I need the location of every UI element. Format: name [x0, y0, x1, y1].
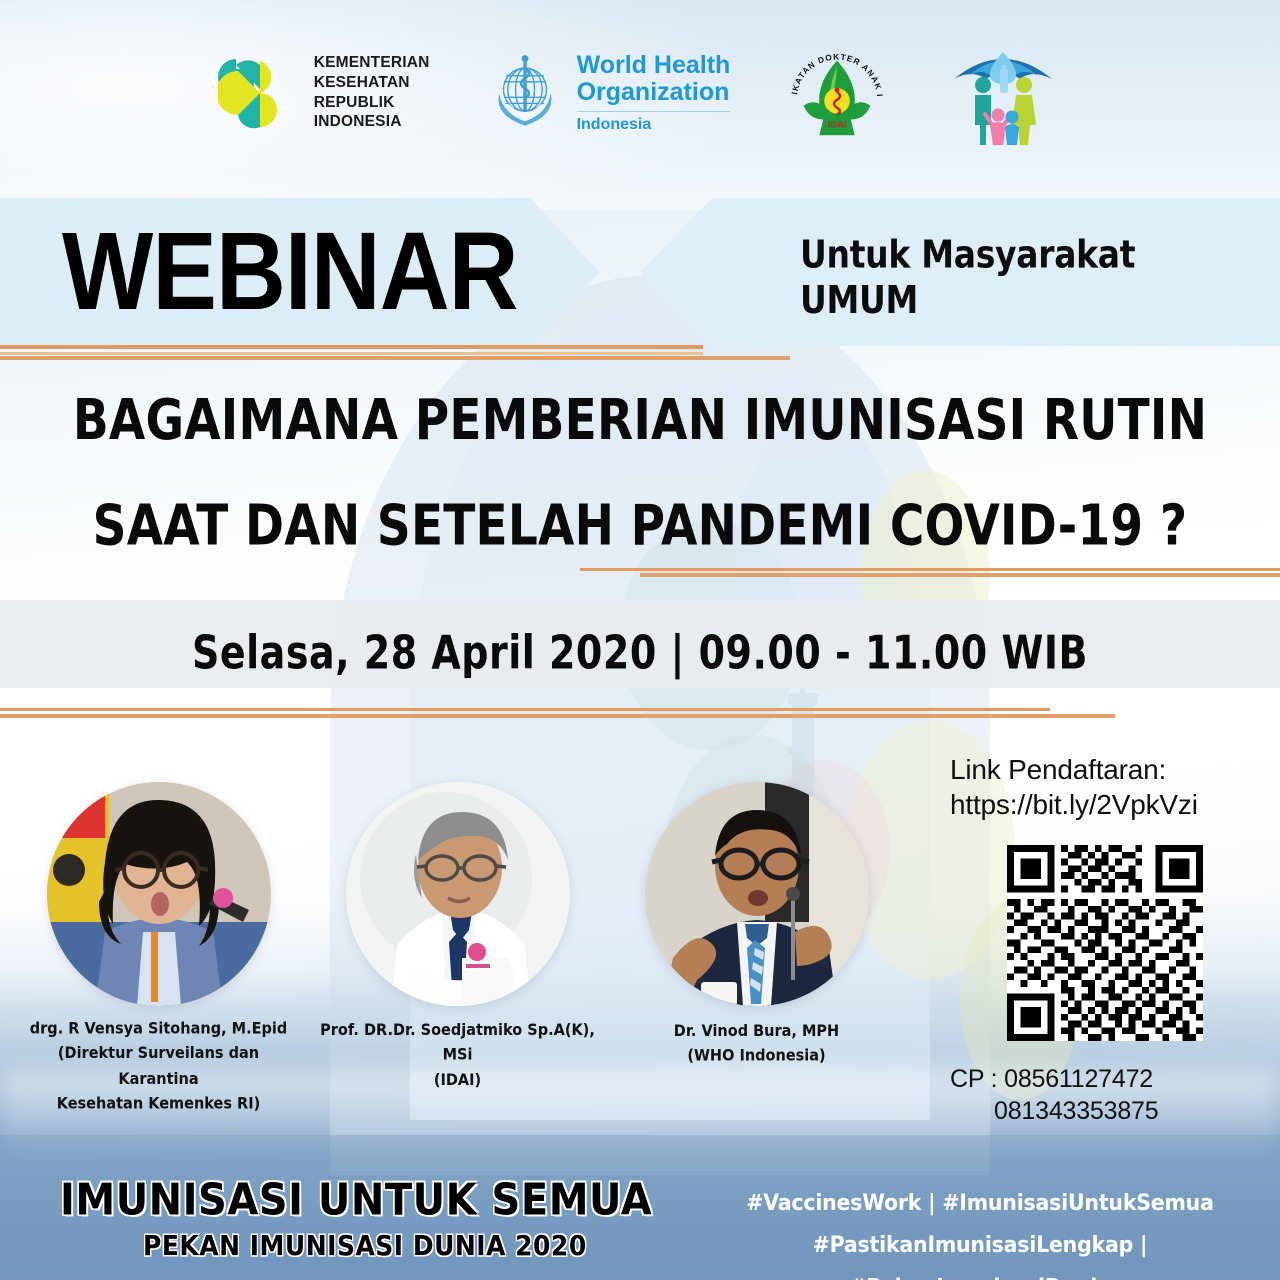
registration-url[interactable]: https://bit.ly/2VpkVzi [950, 787, 1260, 822]
who-logo: World Health Organization Indonesia [482, 50, 731, 136]
speaker-list: drg. R Vensya Sitohang, M.Epid (Direktur… [18, 782, 898, 1112]
contact-block: CP : 08561127472 081343353875 [950, 1063, 1260, 1128]
webinar-poster: KEMENTERIAN KESEHATAN REPUBLIK INDONESIA [0, 0, 1280, 1280]
divider-top-line-3 [0, 356, 790, 360]
contact-primary: CP : 08561127472 [950, 1065, 1153, 1093]
who-line-2: Organization [577, 79, 731, 106]
divider-mid-line-2 [640, 573, 1280, 577]
kemenkes-wordmark: KEMENTERIAN KESEHATAN REPUBLIK INDONESIA [314, 53, 430, 132]
speaker-affiliation-line-2: Kesehatan Kemenkes RI) [18, 1092, 299, 1117]
kemenkes-mark-icon [218, 43, 302, 143]
divider-top-line-1 [0, 345, 703, 349]
logo-bar: KEMENTERIAN KESEHATAN REPUBLIK INDONESIA [0, 0, 1280, 185]
hashtag-line-2: #PastikanImunisasiLengkap | #PekanImunis… [700, 1224, 1260, 1280]
kemenkes-line-2: KESEHATAN [314, 73, 430, 93]
speaker-card: Prof. DR.Dr. Soedjatmiko Sp.A(K), MSi (I… [317, 782, 598, 1112]
title-line-2: SAAT DAN SETELAH PANDEMI COVID-19 ? [0, 474, 1280, 580]
who-wordmark: World Health Organization Indonesia [577, 52, 731, 134]
avatar [47, 782, 271, 1006]
speaker-photo [346, 782, 570, 1006]
speaker-affiliation-line-1: (WHO Indonesia) [674, 1044, 839, 1069]
kemenkes-line-3: REPUBLIK [314, 93, 430, 113]
campaign-subslogan: PEKAN IMUNISASI DUNIA 2020 [143, 1232, 703, 1260]
speaker-photo [645, 782, 869, 1006]
divider-low-line-1 [0, 708, 1050, 711]
divider-mid-line-1 [580, 568, 1280, 571]
title-line-1: BAGAIMANA PEMBERIAN IMUNISASI RUTIN [0, 368, 1280, 474]
speaker-name: Dr. Vinod Bura, MPH [674, 1019, 839, 1044]
audience-label: Untuk Masyarakat UMUM [800, 232, 1240, 322]
speaker-affiliation-line-1: (IDAI) [317, 1068, 598, 1093]
registration-label: Link Pendaftaran: [950, 752, 1260, 787]
kemenkes-line-1: KEMENTERIAN [314, 53, 430, 73]
campaign-slogan: IMUNISASI UNTUK SEMUA [60, 1178, 680, 1222]
speaker-name: Prof. DR.Dr. Soedjatmiko Sp.A(K), MSi [317, 1018, 598, 1068]
speaker-card: drg. R Vensya Sitohang, M.Epid (Direktur… [18, 782, 299, 1112]
webinar-label: WEBINAR [62, 202, 499, 342]
page-title: BAGAIMANA PEMBERIAN IMUNISASI RUTIN SAAT… [0, 368, 1280, 579]
speaker-caption: Dr. Vinod Bura, MPH (WHO Indonesia) [674, 1019, 839, 1069]
divider-low-line-2 [0, 714, 1115, 718]
speaker-caption: Prof. DR.Dr. Soedjatmiko Sp.A(K), MSi (I… [317, 1018, 598, 1093]
schedule-text: Selasa, 28 April 2020 | 09.00 - 11.00 WI… [0, 604, 1280, 702]
avatar [346, 782, 570, 1006]
who-divider [577, 111, 731, 112]
speaker-affiliation-line-1: (Direktur Surveilans dan Karantina [18, 1042, 299, 1092]
hashtag-line-1: #VaccinesWork | #ImunisasiUntukSemua [700, 1182, 1260, 1224]
who-emblem-icon [482, 50, 568, 136]
who-country-label: Indonesia [577, 116, 731, 134]
divider-top-line-2 [0, 352, 703, 355]
contact-secondary: 081343353875 [950, 1095, 1260, 1128]
registration-block: Link Pendaftaran: https://bit.ly/2VpkVzi [950, 752, 1260, 1128]
speaker-photo [47, 782, 271, 1006]
avatar [645, 782, 869, 1006]
kemenkes-logo: KEMENTERIAN KESEHATAN REPUBLIK INDONESIA [218, 43, 430, 143]
speaker-caption: drg. R Vensya Sitohang, M.Epid (Direktur… [18, 1017, 299, 1118]
speaker-name: drg. R Vensya Sitohang, M.Epid [18, 1017, 299, 1042]
hashtag-block: #VaccinesWork | #ImunisasiUntukSemua #Pa… [700, 1182, 1260, 1280]
svg-text:IDAI: IDAI [828, 119, 847, 129]
kemenkes-line-4: INDONESIA [314, 112, 430, 132]
qr-code-icon[interactable] [1007, 845, 1203, 1041]
idai-logo: IKATAN DOKTER ANAK INDONESIA IDAI [782, 39, 892, 147]
who-line-1: World Health [577, 52, 731, 79]
immunization-umbrella-logo [944, 37, 1062, 149]
speaker-card: Dr. Vinod Bura, MPH (WHO Indonesia) [616, 782, 897, 1112]
